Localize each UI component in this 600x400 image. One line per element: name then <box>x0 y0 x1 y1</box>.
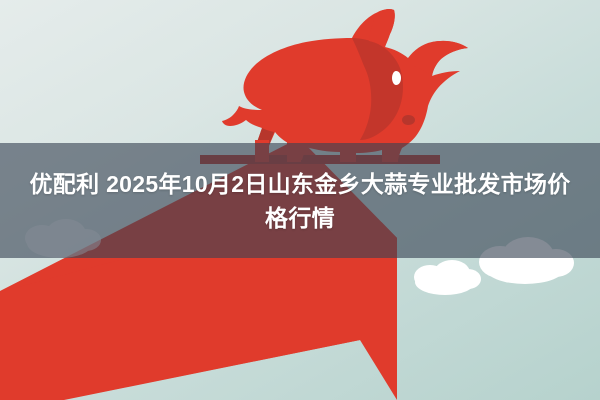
bull-icon <box>222 9 468 160</box>
caption-band: 优配利 2025年10月2日山东金乡大蒜专业批发市场价格行情 <box>0 143 600 258</box>
cloud-right-small-icon <box>414 260 481 295</box>
caption-title: 优配利 2025年10月2日山东金乡大蒜专业批发市场价格行情 <box>20 167 580 235</box>
thumbnail-image: 优配利 2025年10月2日山东金乡大蒜专业批发市场价格行情 <box>0 0 600 400</box>
